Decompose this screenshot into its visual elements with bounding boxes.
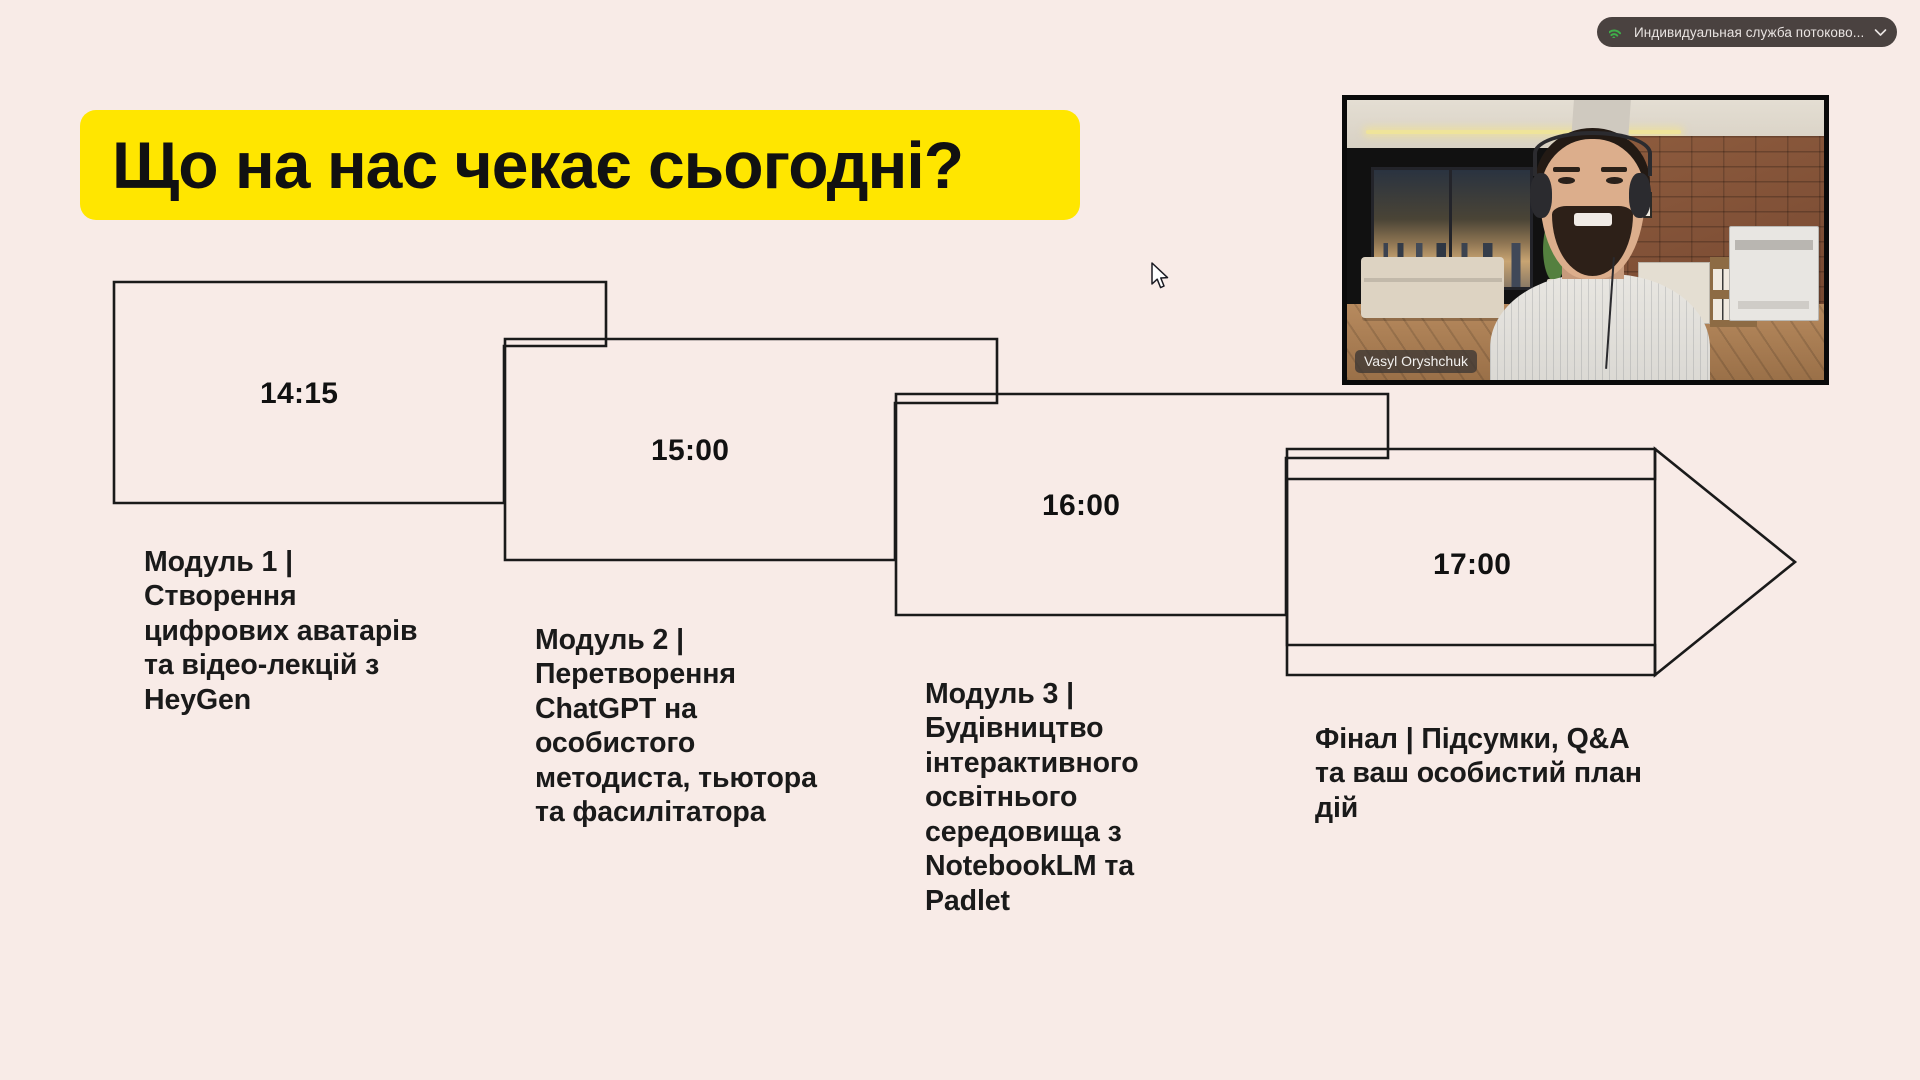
person-shirt	[1490, 274, 1709, 385]
person	[1347, 100, 1824, 380]
participant-video-tile[interactable]: Vasyl Oryshchuk	[1342, 95, 1829, 385]
slide-title-highlight: Що на нас чекає сьогодні?	[80, 110, 1080, 220]
timeline-caption-3: Модуль 3 | Будівництво інтерактивного ос…	[925, 677, 1225, 918]
headset-earcup-left	[1530, 173, 1551, 218]
share-badge-label: Индивидуальная служба потоково...	[1634, 25, 1866, 40]
page-title: Що на нас чекає сьогодні?	[112, 132, 963, 198]
timeline-step-4: 17:00	[1285, 447, 1805, 677]
screen-share-badge[interactable]: Индивидуальная служба потоково...	[1597, 17, 1897, 47]
mouse-cursor	[1150, 262, 1172, 297]
timeline-arrow-shape-4	[1285, 447, 1805, 677]
person-mouth	[1574, 213, 1612, 226]
timeline-time-1: 14:15	[260, 377, 338, 411]
timeline-time-3: 16:00	[1042, 489, 1120, 523]
chevron-down-icon[interactable]	[1874, 25, 1887, 40]
timeline-time-2: 15:00	[651, 434, 729, 468]
participant-name-label: Vasyl Oryshchuk	[1355, 350, 1477, 373]
timeline-caption-1: Модуль 1 | Створення цифрових аватарів т…	[144, 545, 424, 717]
headset-earcup-right	[1629, 173, 1650, 218]
timeline-caption-2: Модуль 2 | Перетворення ChatGPT на особи…	[535, 623, 825, 830]
headset-band	[1533, 131, 1652, 176]
video-scene	[1347, 100, 1824, 380]
broadcast-icon	[1609, 23, 1626, 41]
timeline-caption-4: Фінал | Підсумки, Q&A та ваш особистий п…	[1315, 722, 1645, 825]
timeline-time-4: 17:00	[1433, 548, 1511, 582]
